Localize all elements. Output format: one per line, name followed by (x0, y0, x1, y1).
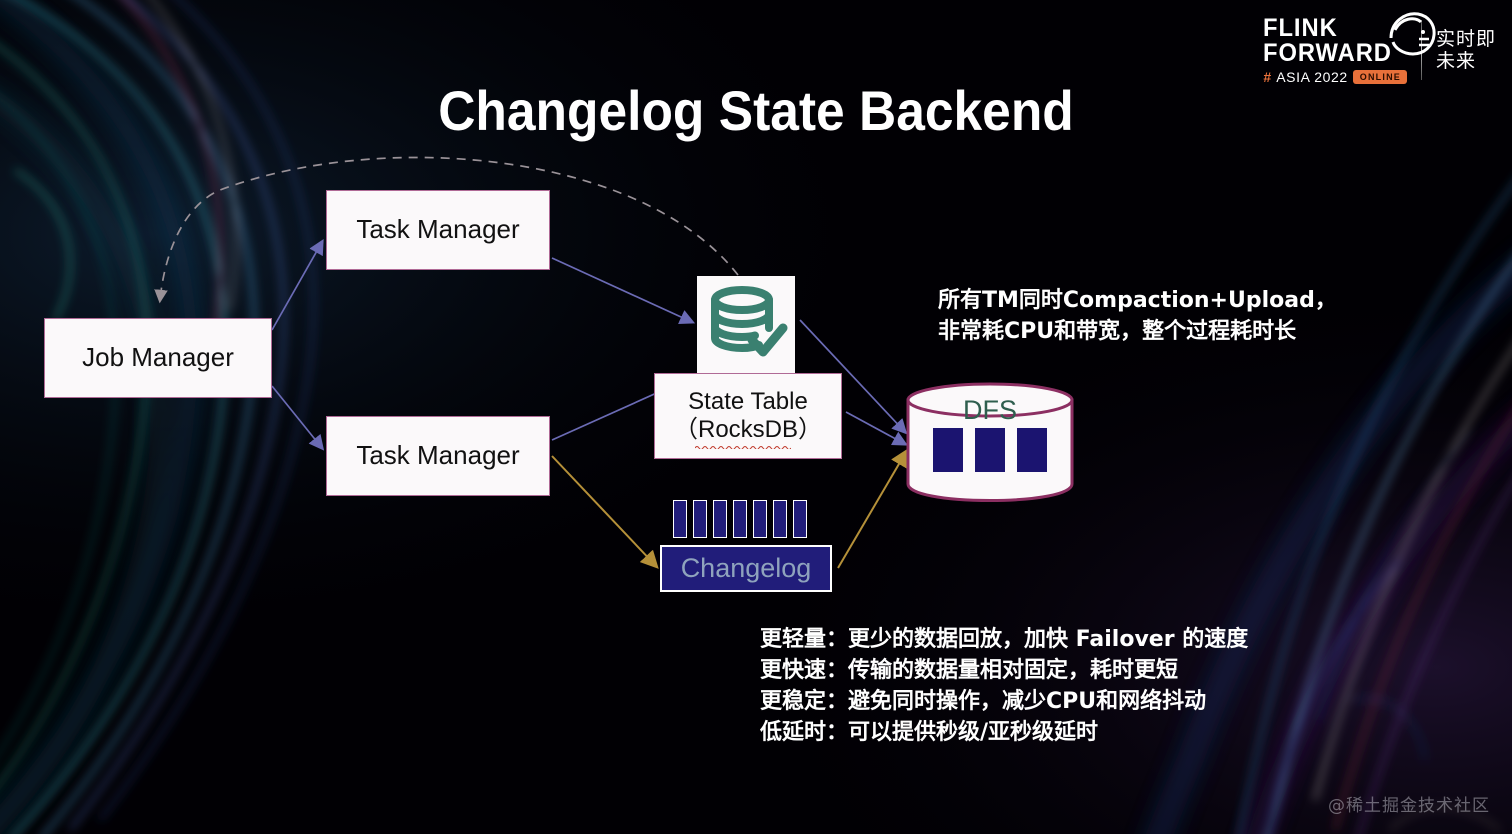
database-check-icon (704, 282, 788, 371)
node-task-manager-1[interactable]: Task Manager (326, 190, 550, 270)
node-changelog-label: Changelog (681, 553, 812, 584)
node-state-table-line-1: State Table (688, 388, 808, 416)
changelog-bar (693, 500, 707, 538)
node-state-table-line-2: （RocksDB） (674, 416, 822, 444)
tagline-line-1: 实时即 (1436, 28, 1496, 50)
logo-line-flink: FLINK (1263, 16, 1392, 41)
benefit-item: 更稳定：避免同时操作，减少CPU和网络抖动 (760, 686, 1248, 717)
changelog-bar (753, 500, 767, 538)
annotation-benefits-list: 更轻量：更少的数据回放，加快 Failover 的速度 更快速：传输的数据量相对… (760, 624, 1248, 748)
benefit-item: 更快速：传输的数据量相对固定，耗时更短 (760, 655, 1248, 686)
node-task-manager-2[interactable]: Task Manager (326, 416, 550, 496)
annotation-top-right: 所有TM同时Compaction+Upload， 非常耗CPU和带宽，整个过程耗… (938, 285, 1337, 347)
node-dfs-label: DFS (905, 395, 1075, 426)
annotation-top-line-1: 所有TM同时Compaction+Upload， (938, 285, 1337, 316)
spellcheck-squiggle-icon (695, 445, 791, 449)
slide-canvas: FLINK FORWARD # ASIA 2022 ONLINE 实 (0, 0, 1512, 834)
logo-wordmark: FLINK FORWARD # ASIA 2022 ONLINE (1263, 16, 1407, 84)
flink-squirrel-icon (1385, 8, 1441, 65)
benefit-item: 低延时：可以提供秒级/亚秒级延时 (760, 717, 1248, 748)
changelog-bar (773, 500, 787, 538)
node-job-manager[interactable]: Job Manager (44, 318, 272, 398)
changelog-bar (733, 500, 747, 538)
database-icon-panel (697, 276, 795, 376)
node-dfs[interactable]: DFS (905, 381, 1075, 503)
node-task-manager-2-label: Task Manager (356, 441, 519, 471)
changelog-bar (793, 500, 807, 538)
page-title: Changelog State Backend (60, 78, 1451, 143)
node-job-manager-label: Job Manager (82, 343, 234, 373)
changelog-bar (673, 500, 687, 538)
logo-text-block: FLINK FORWARD (1263, 16, 1399, 66)
benefit-item: 更轻量：更少的数据回放，加快 Failover 的速度 (760, 624, 1248, 655)
changelog-bar (713, 500, 727, 538)
logo-chinese-tagline: 实时即 未来 (1436, 28, 1496, 72)
node-changelog[interactable]: Changelog (660, 545, 832, 592)
watermark: @稀土掘金技术社区 (1328, 791, 1490, 816)
annotation-top-line-2: 非常耗CPU和带宽，整个过程耗时长 (938, 316, 1337, 347)
flink-forward-logo: FLINK FORWARD # ASIA 2022 ONLINE 实 (1263, 16, 1496, 84)
tagline-line-2: 未来 (1436, 50, 1496, 72)
changelog-record-bars (673, 500, 813, 538)
node-state-table[interactable]: State Table （RocksDB） (654, 373, 842, 459)
logo-line-forward: FORWARD (1263, 41, 1392, 66)
node-task-manager-1-label: Task Manager (356, 215, 519, 245)
